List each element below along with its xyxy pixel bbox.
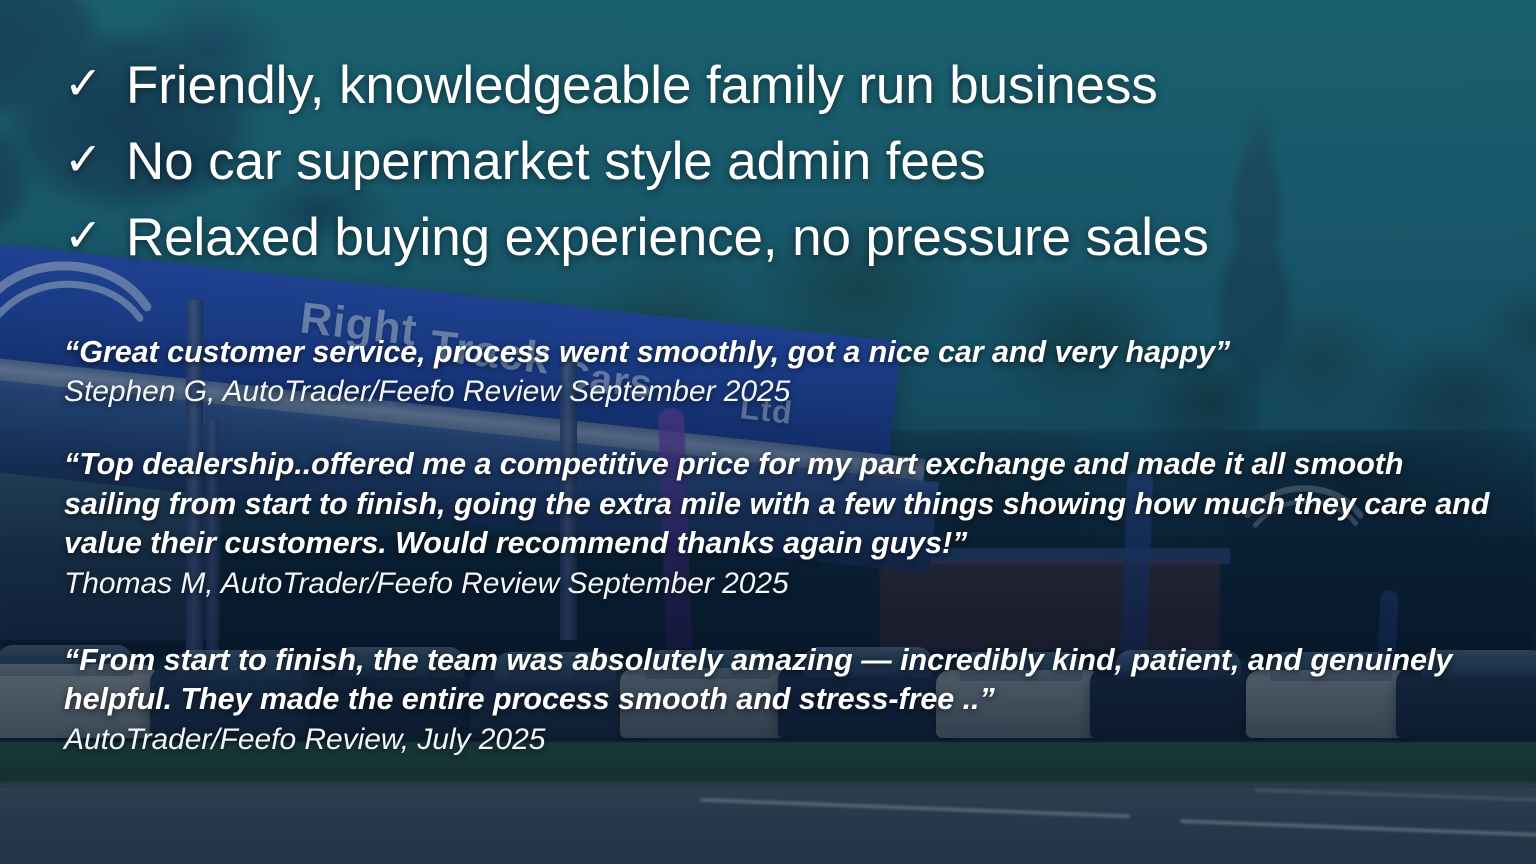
slide-content: ✓ Friendly, knowledgeable family run bus… <box>0 0 1536 864</box>
review-item: “From start to finish, the team was abso… <box>64 641 1504 759</box>
review-attribution: Thomas M, AutoTrader/Feefo Review Septem… <box>64 564 1504 603</box>
check-icon: ✓ <box>64 60 126 106</box>
check-icon: ✓ <box>64 136 126 182</box>
bullet-item: ✓ Relaxed buying experience, no pressure… <box>64 204 1484 273</box>
slide-canvas: Right Track Cars Ltd <box>0 0 1536 864</box>
review-attribution: AutoTrader/Feefo Review, July 2025 <box>64 720 1504 759</box>
review-quote: “From start to finish, the team was abso… <box>64 641 1504 720</box>
review-quote: “Top dealership..offered me a competitiv… <box>64 445 1504 563</box>
bullet-text: Relaxed buying experience, no pressure s… <box>126 204 1209 273</box>
bullet-list: ✓ Friendly, knowledgeable family run bus… <box>64 52 1484 273</box>
review-list: “Great customer service, process went sm… <box>64 333 1504 759</box>
check-icon: ✓ <box>64 212 126 258</box>
review-item: “Great customer service, process went sm… <box>64 333 1504 411</box>
bullet-text: Friendly, knowledgeable family run busin… <box>126 52 1158 121</box>
review-quote: “Great customer service, process went sm… <box>64 333 1504 372</box>
bullet-text: No car supermarket style admin fees <box>126 128 986 197</box>
review-attribution: Stephen G, AutoTrader/Feefo Review Septe… <box>64 372 1504 411</box>
bullet-item: ✓ Friendly, knowledgeable family run bus… <box>64 52 1484 121</box>
bullet-item: ✓ No car supermarket style admin fees <box>64 128 1484 197</box>
review-item: “Top dealership..offered me a competitiv… <box>64 445 1504 602</box>
